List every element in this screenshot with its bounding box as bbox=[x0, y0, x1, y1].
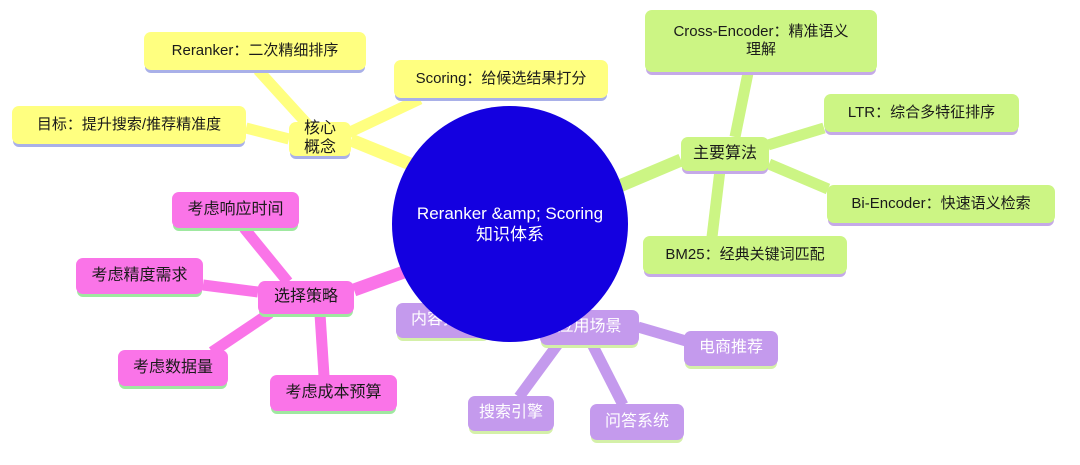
mindmap-canvas: Reranker &amp; Scoring 知识体系核心概念Reranker：… bbox=[0, 0, 1080, 465]
node-label: 电商推荐 bbox=[690, 339, 772, 358]
mindmap-edge bbox=[244, 228, 288, 282]
node-label: 考虑数据量 bbox=[124, 359, 222, 378]
mindmap-edge bbox=[638, 327, 686, 341]
mindmap-edge bbox=[592, 344, 623, 405]
mindmap-edge bbox=[212, 313, 270, 352]
mindmap-edge bbox=[246, 128, 289, 139]
branch-hub-selection-strategy[interactable]: 选择策略 bbox=[258, 281, 354, 314]
node-label: 主要算法 bbox=[684, 145, 766, 164]
node-label: 核心概念 bbox=[289, 120, 351, 158]
mindmap-edge bbox=[712, 170, 720, 237]
branch-leaf-selection-strategy-0[interactable]: 考虑响应时间 bbox=[172, 192, 299, 228]
node-label: Scoring：给候选结果打分 bbox=[407, 70, 596, 88]
branch-hub-main-algorithms[interactable]: 主要算法 bbox=[681, 137, 769, 171]
node-label: Cross-Encoder：精准语义 理解 bbox=[664, 23, 857, 58]
branch-leaf-use-cases-3[interactable]: 问答系统 bbox=[590, 404, 684, 440]
mindmap-edge bbox=[519, 344, 558, 397]
branch-leaf-main-algorithms-1[interactable]: LTR：综合多特征排序 bbox=[824, 94, 1019, 132]
root-node[interactable]: Reranker &amp; Scoring 知识体系 bbox=[392, 106, 628, 342]
branch-leaf-main-algorithms-2[interactable]: Bi-Encoder：快速语义检索 bbox=[827, 185, 1055, 223]
branch-hub-core-concepts[interactable]: 核心概念 bbox=[289, 122, 351, 156]
mindmap-edge bbox=[348, 99, 420, 133]
mindmap-edge bbox=[768, 128, 824, 145]
branch-leaf-main-algorithms-0[interactable]: Cross-Encoder：精准语义 理解 bbox=[645, 10, 877, 72]
root-node-label: Reranker &amp; Scoring 知识体系 bbox=[408, 203, 612, 246]
node-label: 考虑响应时间 bbox=[178, 201, 292, 220]
branch-leaf-core-concepts-1[interactable]: 目标：提升搜索/推荐精准度 bbox=[12, 106, 246, 144]
node-label: 选择策略 bbox=[265, 288, 347, 307]
branch-leaf-core-concepts-0[interactable]: Reranker：二次精细排序 bbox=[144, 32, 366, 70]
node-label: 目标：提升搜索/推荐精准度 bbox=[28, 116, 230, 134]
mindmap-edge bbox=[203, 285, 258, 292]
node-label: 问答系统 bbox=[596, 413, 678, 432]
node-label: BM25：经典关键词匹配 bbox=[656, 246, 833, 264]
node-label: 搜索引擎 bbox=[470, 404, 552, 423]
node-label: 考虑精度需求 bbox=[82, 267, 196, 286]
node-label: 考虑成本预算 bbox=[276, 384, 390, 403]
branch-leaf-main-algorithms-3[interactable]: BM25：经典关键词匹配 bbox=[643, 236, 847, 274]
branch-leaf-selection-strategy-1[interactable]: 考虑精度需求 bbox=[76, 258, 203, 294]
branch-leaf-core-concepts-2[interactable]: Scoring：给候选结果打分 bbox=[394, 60, 608, 98]
branch-leaf-use-cases-1[interactable]: 电商推荐 bbox=[684, 331, 778, 366]
branch-leaf-selection-strategy-2[interactable]: 考虑数据量 bbox=[118, 350, 228, 386]
node-label: LTR：综合多特征排序 bbox=[839, 104, 1004, 122]
mindmap-edge bbox=[769, 164, 828, 189]
node-label: Reranker：二次精细排序 bbox=[163, 42, 348, 60]
mindmap-edge bbox=[735, 73, 748, 137]
mindmap-edge bbox=[320, 314, 324, 376]
node-label: Bi-Encoder：快速语义检索 bbox=[842, 195, 1039, 213]
mindmap-edge bbox=[258, 70, 309, 126]
branch-leaf-selection-strategy-3[interactable]: 考虑成本预算 bbox=[270, 375, 397, 411]
branch-leaf-use-cases-2[interactable]: 搜索引擎 bbox=[468, 396, 554, 431]
